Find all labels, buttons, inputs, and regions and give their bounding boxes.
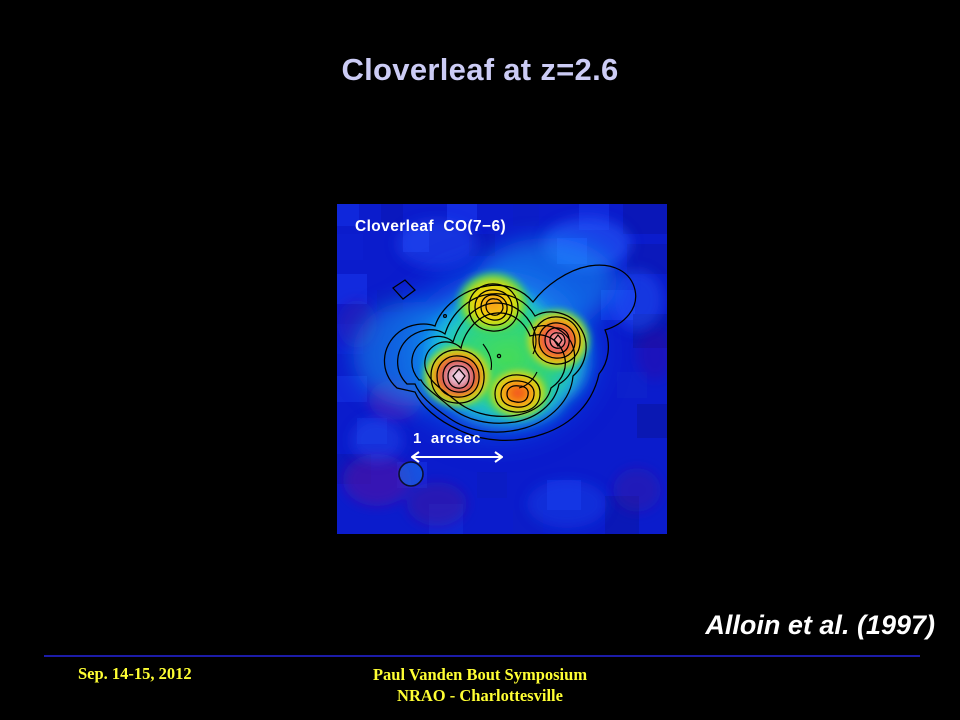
footer-center: Paul Vanden Bout Symposium NRAO - Charlo… [0,664,960,706]
scalebar-label: 1 arcsec [413,430,481,447]
co76-map-image [337,204,667,534]
slide-title: Cloverleaf at z=2.6 [0,52,960,88]
footer-event: Paul Vanden Bout Symposium [0,664,960,685]
footer-divider [44,655,920,657]
citation-text: Alloin et al. (1997) [705,610,935,641]
inset-label: Cloverleaf CO(7−6) [355,218,506,236]
figure-panel: Cloverleaf CO(7−6) 1 arcsec [337,204,667,534]
footer-location: NRAO - Charlottesville [0,685,960,706]
footer: Sep. 14-15, 2012 Paul Vanden Bout Sympos… [0,660,960,720]
